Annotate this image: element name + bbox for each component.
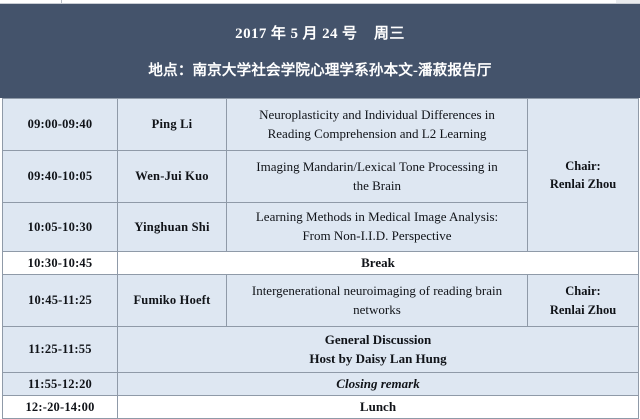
session-time: 12:-20-14:00 bbox=[3, 396, 118, 419]
break-label: Break bbox=[118, 252, 639, 275]
session-title: Neuroplasticity and Individual Differenc… bbox=[227, 99, 528, 151]
session-time: 11:55-12:20 bbox=[3, 373, 118, 396]
session-speaker: Yinghuan Shi bbox=[118, 203, 227, 252]
session-speaker: Fumiko Hoeft bbox=[118, 275, 227, 327]
session-title: Imaging Mandarin/Lexical Tone Processing… bbox=[227, 151, 528, 203]
session-title-line-1: Intergenerational neuroimaging of readin… bbox=[237, 282, 517, 301]
session-time: 10:05-10:30 bbox=[3, 203, 118, 252]
session-title-line-1: Learning Methods in Medical Image Analys… bbox=[237, 208, 517, 227]
session-speaker: Ping Li bbox=[118, 99, 227, 151]
session-title-line-2: From Non-I.I.D. Perspective bbox=[237, 227, 517, 246]
session-time: 11:25-11:55 bbox=[3, 327, 118, 373]
session-chair: Chair: Renlai Zhou bbox=[528, 275, 639, 327]
session-chair: Chair: Renlai Zhou bbox=[528, 99, 639, 252]
lunch-label: Lunch bbox=[118, 396, 639, 419]
session-title-line-2: the Brain bbox=[237, 177, 517, 196]
session-title: Learning Methods in Medical Image Analys… bbox=[227, 203, 528, 252]
session-time: 09:40-10:05 bbox=[3, 151, 118, 203]
session-speaker: Wen-Jui Kuo bbox=[118, 151, 227, 203]
session-time: 10:45-11:25 bbox=[3, 275, 118, 327]
session-title: Intergenerational neuroimaging of readin… bbox=[227, 275, 528, 327]
schedule-table: 09:00-09:40 Ping Li Neuroplasticity and … bbox=[2, 98, 639, 419]
chair-name: Renlai Zhou bbox=[532, 175, 634, 193]
table-row: 11:25-11:55 General Discussion Host by D… bbox=[3, 327, 639, 373]
chair-name: Renlai Zhou bbox=[532, 301, 634, 319]
event-date: 2017 年 5 月 24 号 周三 bbox=[235, 22, 405, 43]
session-title-line-1: Neuroplasticity and Individual Differenc… bbox=[237, 106, 517, 125]
chair-label: Chair: bbox=[532, 157, 634, 175]
schedule-page: 2017 年 5 月 24 号 周三 地点：南京大学社会学院心理学系孙本文-潘菽… bbox=[0, 0, 640, 404]
window-edge-left-segment bbox=[0, 0, 62, 3]
closing-remark-label: Closing remark bbox=[118, 373, 639, 396]
table-row: 10:45-11:25 Fumiko Hoeft Intergeneration… bbox=[3, 275, 639, 327]
event-banner: 2017 年 5 月 24 号 周三 地点：南京大学社会学院心理学系孙本文-潘菽… bbox=[0, 4, 640, 98]
document-body: 2017 年 5 月 24 号 周三 地点：南京大学社会学院心理学系孙本文-潘菽… bbox=[0, 4, 640, 404]
table-row: 11:55-12:20 Closing remark bbox=[3, 373, 639, 396]
discussion-host: Host by Daisy Lan Hung bbox=[122, 350, 634, 369]
table-row: 10:30-10:45 Break bbox=[3, 252, 639, 275]
session-title-line-2: Reading Comprehension and L2 Learning bbox=[237, 125, 517, 144]
session-title-line-1: Imaging Mandarin/Lexical Tone Processing… bbox=[237, 158, 517, 177]
discussion-title: General Discussion bbox=[122, 331, 634, 350]
discussion-label: General Discussion Host by Daisy Lan Hun… bbox=[118, 327, 639, 373]
event-venue: 地点：南京大学社会学院心理学系孙本文-潘菽报告厅 bbox=[148, 59, 491, 80]
table-row: 09:00-09:40 Ping Li Neuroplasticity and … bbox=[3, 99, 639, 151]
table-row: 12:-20-14:00 Lunch bbox=[3, 396, 639, 419]
session-title-line-2: networks bbox=[237, 301, 517, 320]
window-edge-right-segment bbox=[616, 0, 640, 3]
session-time: 09:00-09:40 bbox=[3, 99, 118, 151]
session-time: 10:30-10:45 bbox=[3, 252, 118, 275]
chair-label: Chair: bbox=[532, 282, 634, 300]
